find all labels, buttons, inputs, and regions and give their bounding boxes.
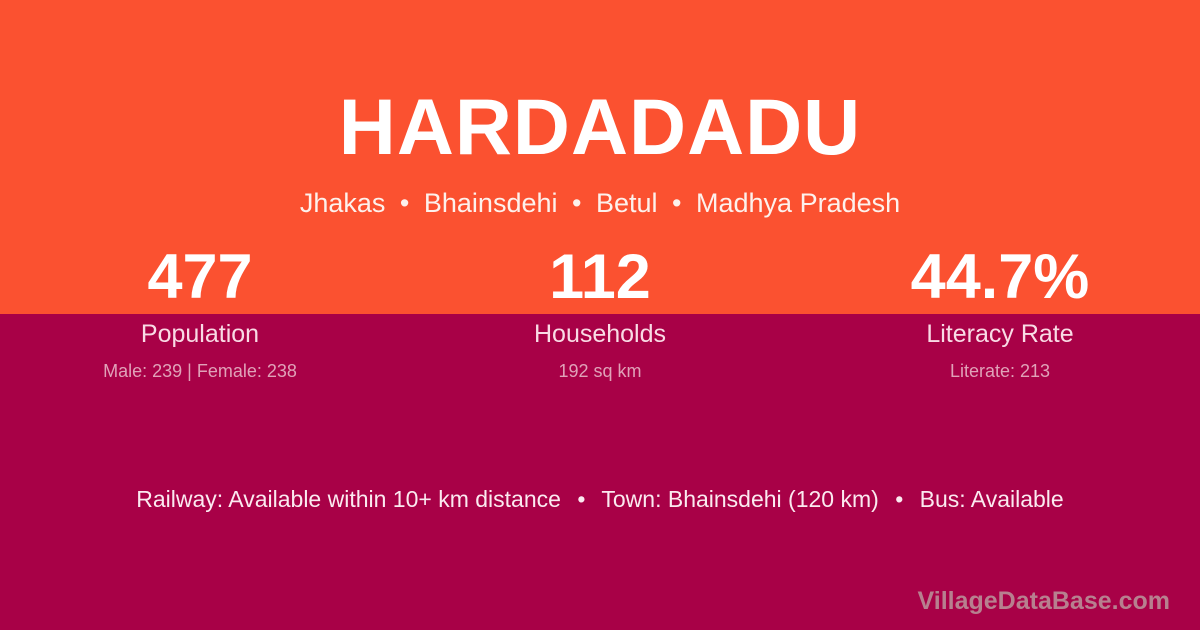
site-watermark: VillageDataBase.com <box>918 586 1170 616</box>
breadcrumb-item-district: Betul <box>596 188 658 218</box>
stat-label: Population <box>0 320 400 349</box>
stat-label: Households <box>400 320 800 349</box>
amenity-bus: Bus: Available <box>920 486 1064 512</box>
stat-detail: 192 sq km <box>400 360 800 382</box>
breadcrumb-separator-icon: • <box>565 188 588 218</box>
breadcrumb-item-state: Madhya Pradesh <box>696 188 900 218</box>
village-info-card: HARDADADU Jhakas • Bhainsdehi • Betul • … <box>0 0 1200 630</box>
page-title: HARDADADU <box>0 0 1200 172</box>
amenity-town: Town: Bhainsdehi (120 km) <box>601 486 878 512</box>
stat-value: 112 <box>400 243 800 311</box>
stat-population: 477 Population Male: 239 | Female: 238 <box>0 243 400 382</box>
stat-value: 477 <box>0 243 400 311</box>
amenity-separator-icon: • <box>567 486 595 512</box>
breadcrumb: Jhakas • Bhainsdehi • Betul • Madhya Pra… <box>0 172 1200 220</box>
card-header: HARDADADU Jhakas • Bhainsdehi • Betul • … <box>0 0 1200 220</box>
stat-label: Literacy Rate <box>800 320 1200 349</box>
stat-detail: Literate: 213 <box>800 360 1200 382</box>
stat-detail: Male: 239 | Female: 238 <box>0 360 400 382</box>
amenities-line: Railway: Available within 10+ km distanc… <box>0 483 1200 515</box>
stat-households: 112 Households 192 sq km <box>400 243 800 382</box>
breadcrumb-item-block: Bhainsdehi <box>424 188 558 218</box>
stat-value: 44.7% <box>800 243 1200 311</box>
amenity-railway: Railway: Available within 10+ km distanc… <box>136 486 561 512</box>
stat-literacy-rate: 44.7% Literacy Rate Literate: 213 <box>800 243 1200 382</box>
breadcrumb-separator-icon: • <box>393 188 416 218</box>
breadcrumb-item-village: Jhakas <box>300 188 386 218</box>
amenity-separator-icon: • <box>885 486 913 512</box>
stats-row: 477 Population Male: 239 | Female: 238 1… <box>0 243 1200 382</box>
breadcrumb-separator-icon: • <box>665 188 688 218</box>
